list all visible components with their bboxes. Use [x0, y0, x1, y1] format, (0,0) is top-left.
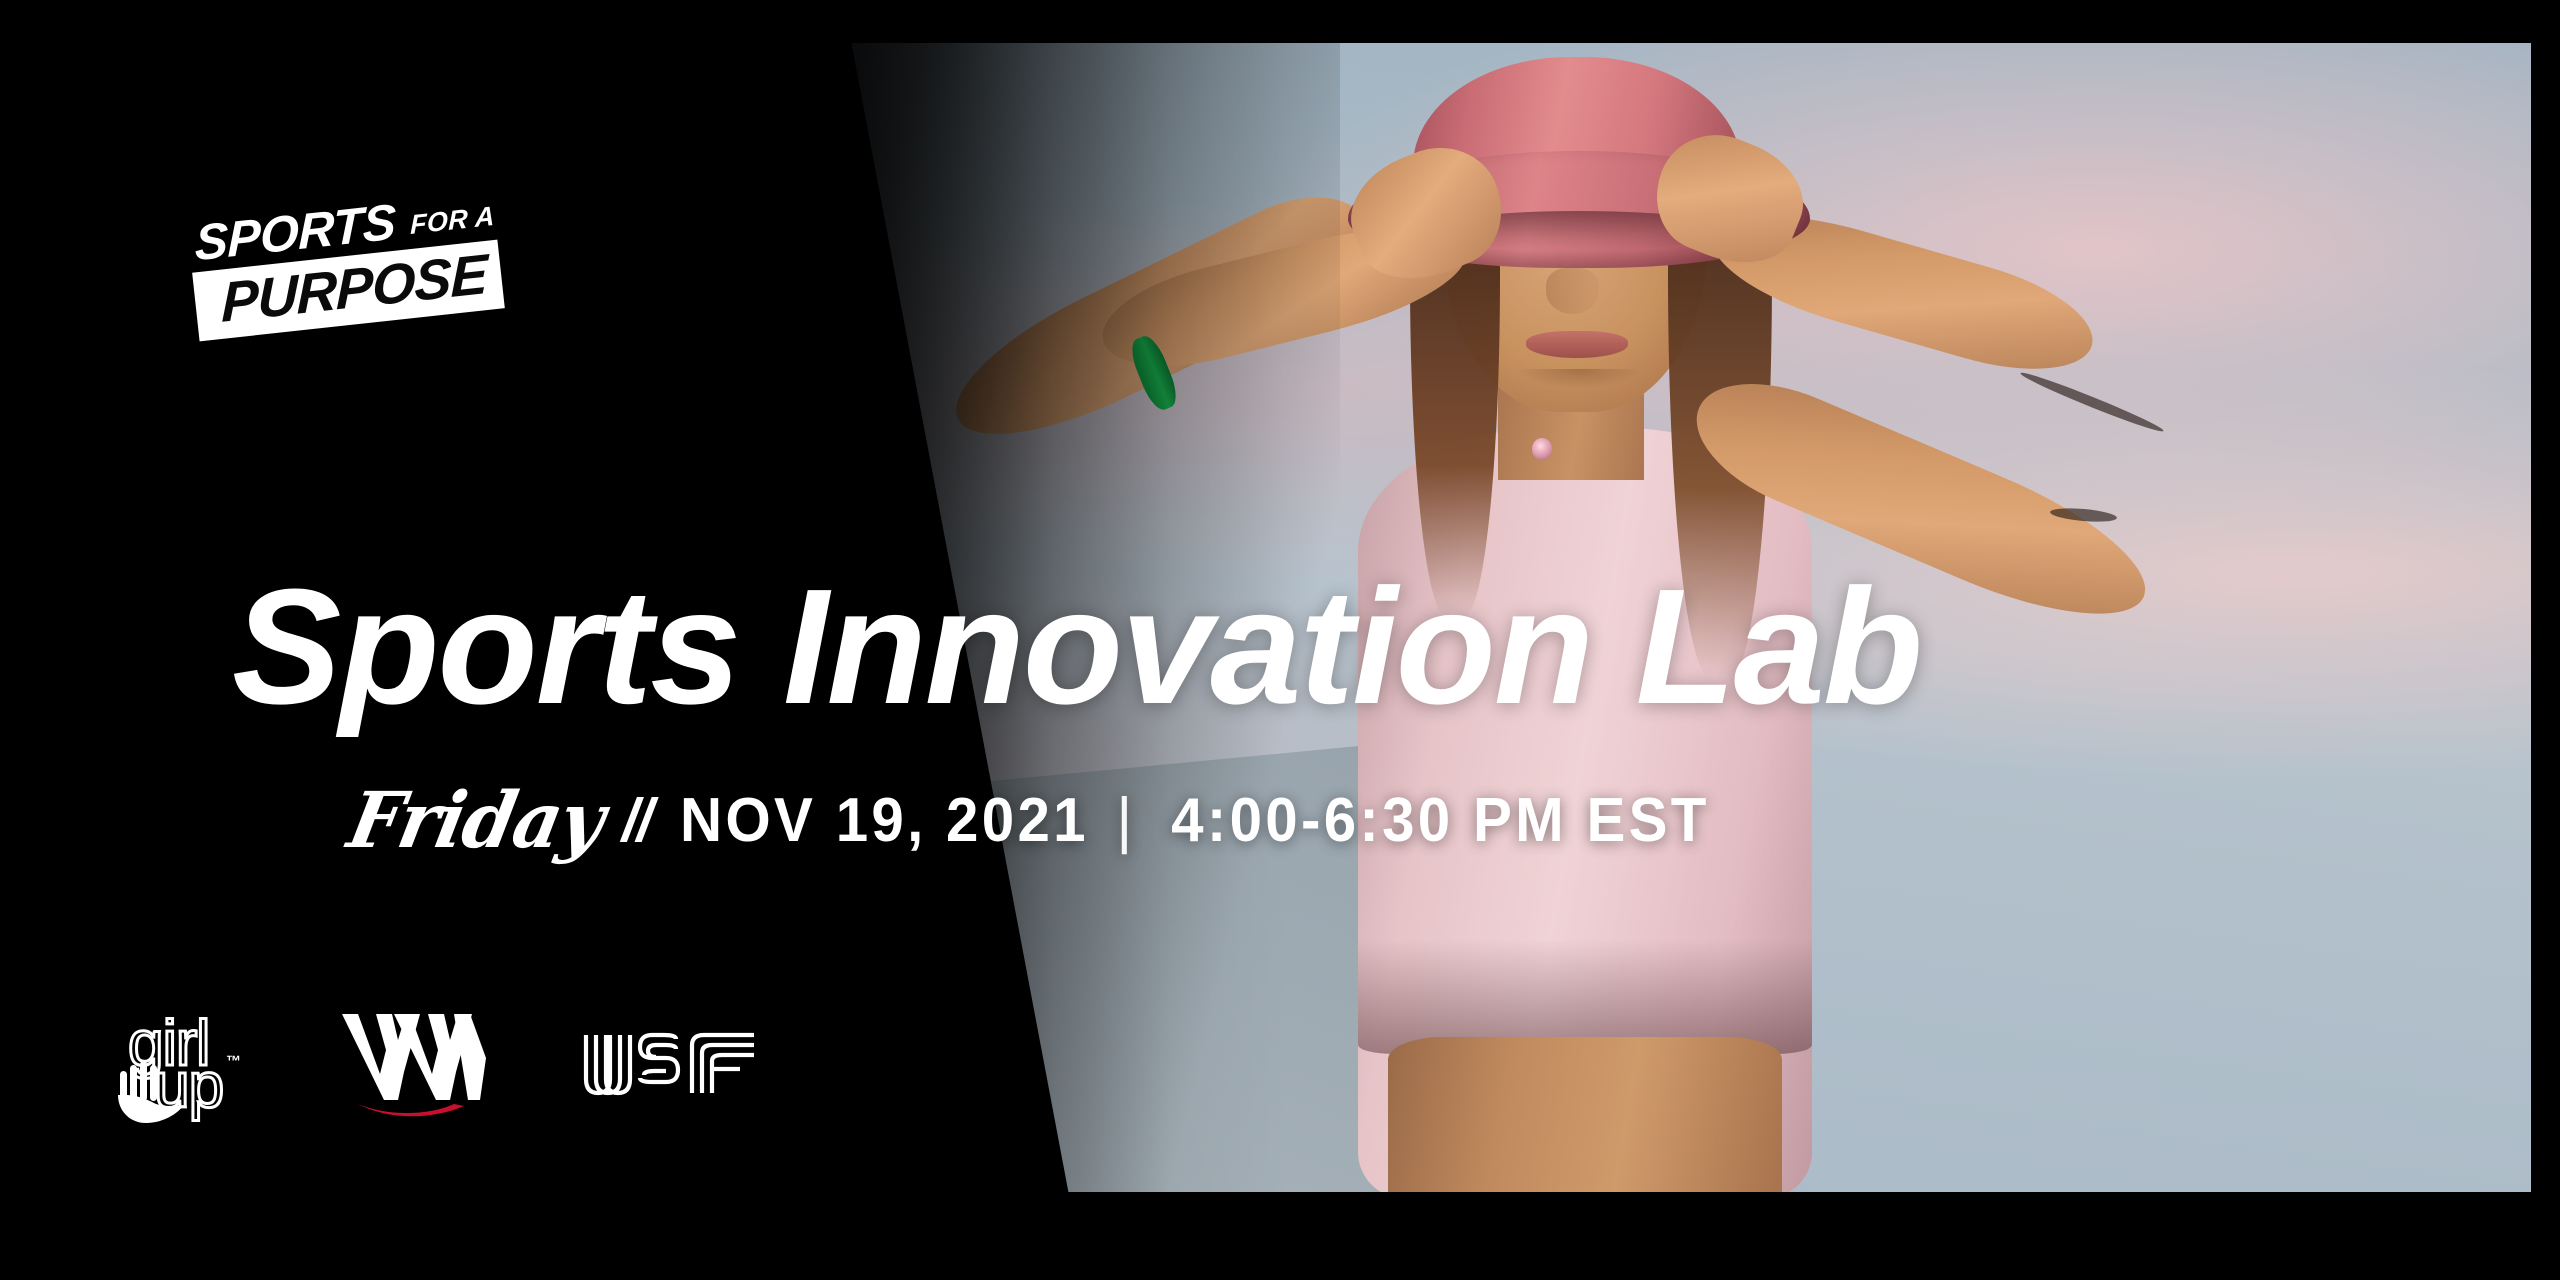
- girl-up-logo[interactable]: girl up ™: [100, 1005, 270, 1125]
- womens-sports-foundation-logo[interactable]: [580, 1021, 760, 1109]
- wwe-w-mark-icon: [336, 1006, 514, 1124]
- wwe-red-swoosh: [358, 1104, 464, 1116]
- logo-word-for-a: FOR A: [410, 201, 495, 240]
- wsf-linework-icon: [580, 1027, 760, 1105]
- tagline-divider: |: [1116, 789, 1132, 853]
- girl-up-trademark: ™: [226, 1053, 241, 1070]
- raised-hand-icon: [116, 1061, 186, 1123]
- event-time: 4:00-6:30 PM EST: [1172, 789, 1710, 853]
- event-date: NOV 19, 2021: [680, 789, 1089, 853]
- event-date-time-line: Friday // NOV 19, 2021 | 4:00-6:30 PM ES…: [350, 782, 1727, 860]
- event-promo-banner: SPORTS FOR A PURPOSE Sports Innovation L…: [0, 0, 2560, 1280]
- sports-for-a-purpose-logo: SPORTS FOR A PURPOSE: [186, 168, 619, 353]
- tagline-separator: //: [622, 790, 651, 852]
- partner-logo-row: girl up ™: [100, 1000, 760, 1130]
- banner-content: SPORTS FOR A PURPOSE Sports Innovation L…: [0, 0, 2560, 1280]
- wwe-logo[interactable]: [336, 1006, 514, 1124]
- event-title: Sports Innovation Lab: [232, 562, 2412, 732]
- event-day: Friday: [342, 780, 610, 861]
